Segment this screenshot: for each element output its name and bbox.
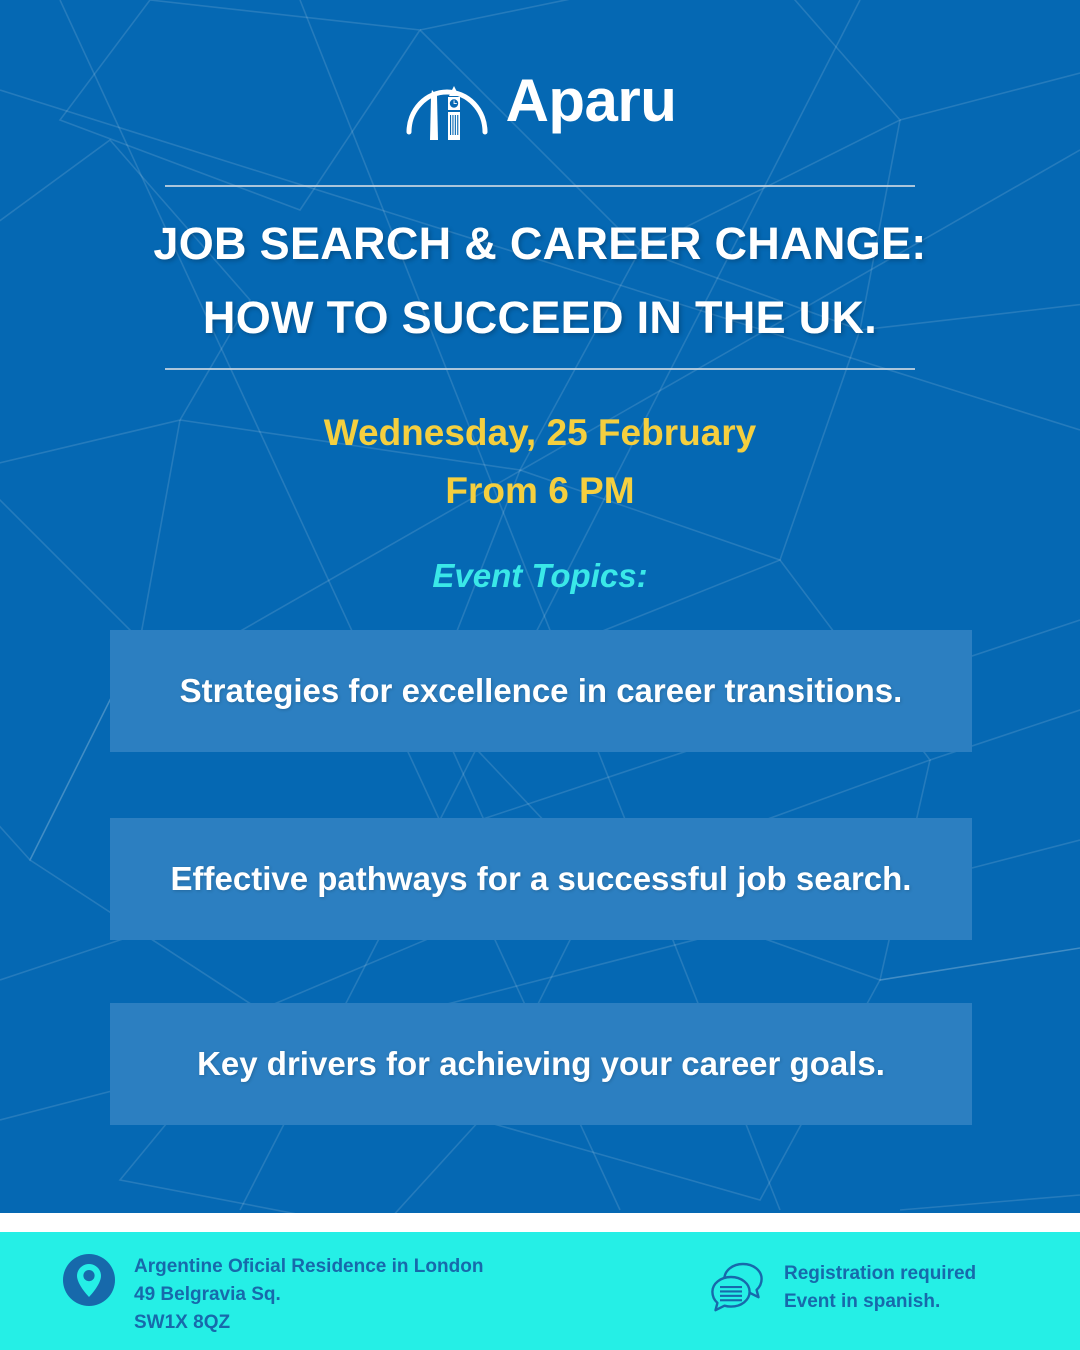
footer-note-lines: Registration required Event in spanish. — [784, 1260, 976, 1316]
venue-name: Argentine Oficial Residence in London — [134, 1253, 483, 1281]
speech-bubbles-icon — [708, 1260, 766, 1314]
language-note: Event in spanish. — [784, 1288, 976, 1316]
event-poster: Aparu JOB SEARCH & CAREER CHANGE: HOW TO… — [0, 0, 1080, 1350]
event-time: From 6 PM — [0, 470, 1080, 512]
venue-street: 49 Belgravia Sq. — [134, 1281, 483, 1309]
footer-band: Argentine Oficial Residence in London 49… — [0, 1232, 1080, 1350]
topic-text: Strategies for excellence in career tran… — [154, 672, 929, 710]
brand-logo: Aparu — [0, 62, 1080, 140]
topic-item: Key drivers for achieving your career go… — [110, 1003, 972, 1125]
footer-venue-lines: Argentine Oficial Residence in London 49… — [134, 1253, 483, 1337]
headline-line-1: JOB SEARCH & CAREER CHANGE: — [0, 218, 1080, 270]
topic-text: Effective pathways for a successful job … — [145, 860, 938, 898]
headline-line-2: HOW TO SUCCEED IN THE UK. — [0, 292, 1080, 344]
footer-note-block: Registration required Event in spanish. — [708, 1260, 976, 1316]
event-topics-label: Event Topics: — [0, 557, 1080, 595]
brand-name: Aparu — [506, 71, 677, 131]
divider-top — [165, 185, 915, 187]
topic-text: Key drivers for achieving your career go… — [171, 1045, 911, 1083]
location-pin-icon — [62, 1253, 116, 1307]
divider-bottom — [165, 368, 915, 370]
venue-postcode: SW1X 8QZ — [134, 1309, 483, 1337]
separator-strip — [0, 1213, 1080, 1232]
event-date: Wednesday, 25 February — [0, 412, 1080, 454]
topic-item: Effective pathways for a successful job … — [110, 818, 972, 940]
footer-venue-block: Argentine Oficial Residence in London 49… — [62, 1253, 483, 1337]
obelisk-bigben-arch-icon — [404, 62, 490, 140]
registration-note: Registration required — [784, 1260, 976, 1288]
topic-item: Strategies for excellence in career tran… — [110, 630, 972, 752]
